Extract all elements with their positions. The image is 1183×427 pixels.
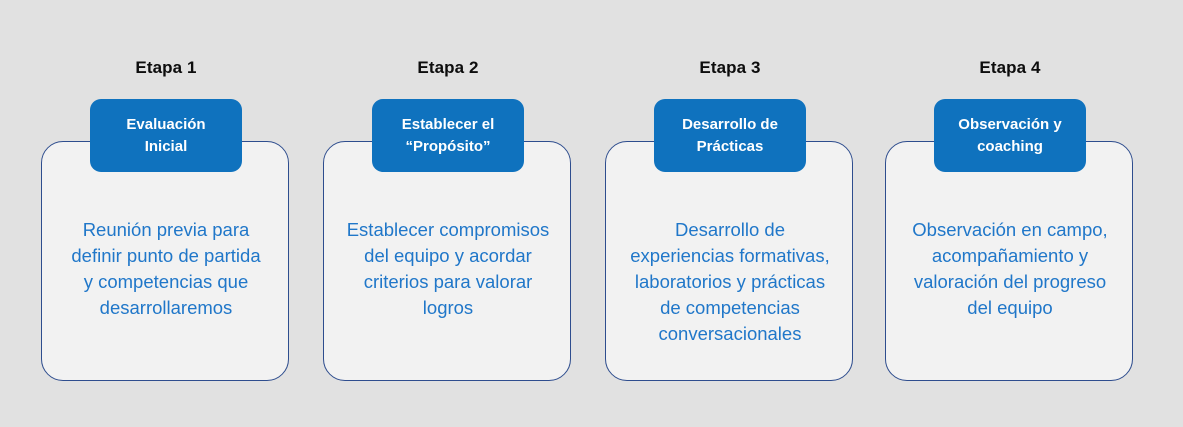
stage-1-badge: Evaluación Inicial bbox=[90, 99, 242, 172]
stage-2-label: Etapa 2 bbox=[323, 58, 573, 78]
stage-4: Etapa 4 Observación en campo, acompañami… bbox=[885, 0, 1135, 427]
stage-3-badge-label: Desarrollo de Prácticas bbox=[676, 114, 784, 158]
stage-1-label: Etapa 1 bbox=[41, 58, 291, 78]
stage-2-description: Establecer compromisos del equipo y acor… bbox=[332, 217, 564, 321]
stage-3-label: Etapa 3 bbox=[605, 58, 855, 78]
stage-2: Etapa 2 Establecer compromisos del equip… bbox=[323, 0, 573, 427]
stage-4-description: Observación en campo, acompañamiento y v… bbox=[894, 217, 1126, 321]
stage-2-badge-label: Establecer el “Propósito” bbox=[396, 114, 501, 158]
stage-3: Etapa 3 Desarrollo de experiencias forma… bbox=[605, 0, 855, 427]
stage-3-card: Desarrollo de experiencias formativas, l… bbox=[605, 141, 853, 381]
stage-4-badge-label: Observación y coaching bbox=[952, 114, 1067, 158]
stage-2-card: Establecer compromisos del equipo y acor… bbox=[323, 141, 571, 381]
process-diagram: Etapa 1 Reunión previa para definir punt… bbox=[0, 0, 1183, 427]
stage-1: Etapa 1 Reunión previa para definir punt… bbox=[41, 0, 291, 427]
stage-1-badge-label: Evaluación Inicial bbox=[120, 114, 211, 158]
stage-3-badge: Desarrollo de Prácticas bbox=[654, 99, 806, 172]
stage-4-card: Observación en campo, acompañamiento y v… bbox=[885, 141, 1133, 381]
stage-1-description: Reunión previa para definir punto de par… bbox=[50, 217, 282, 321]
stage-3-description: Desarrollo de experiencias formativas, l… bbox=[614, 217, 846, 347]
stage-2-badge: Establecer el “Propósito” bbox=[372, 99, 524, 172]
stage-4-badge: Observación y coaching bbox=[934, 99, 1086, 172]
stage-1-card: Reunión previa para definir punto de par… bbox=[41, 141, 289, 381]
stage-4-label: Etapa 4 bbox=[885, 58, 1135, 78]
